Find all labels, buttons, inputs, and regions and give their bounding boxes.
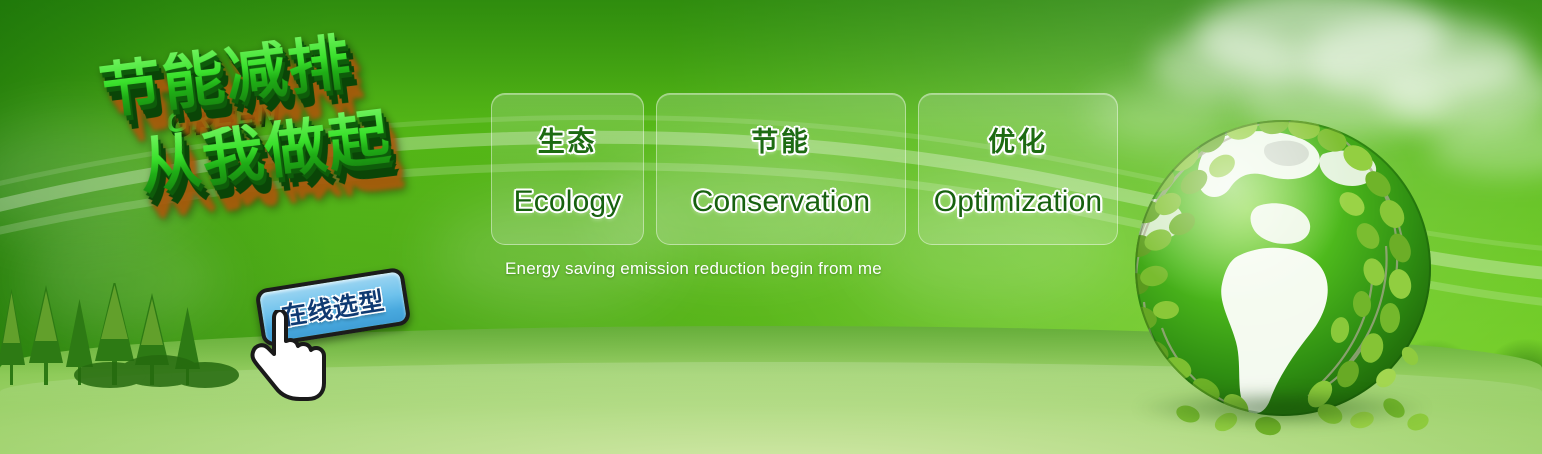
headline-block: 节能减排 GREEN 从我做起: [84, 15, 511, 312]
feature-card-optimization[interactable]: 优化 Optimization: [918, 93, 1118, 245]
feature-card-title-en: Ecology: [514, 185, 622, 219]
feature-card-ecology[interactable]: 生态 Ecology: [491, 93, 644, 245]
eco-promo-banner: 节能减排 GREEN 从我做起 在线选型 生态 Ecology 节能 Conse…: [0, 0, 1542, 454]
globe-ground-shadow: [1132, 388, 1432, 428]
feature-card-title-en: Optimization: [934, 185, 1103, 219]
feature-card-title-cn: 优化: [988, 120, 1047, 159]
pointing-hand-cursor-icon: [244, 310, 330, 402]
banner-tagline: Energy saving emission reduction begin f…: [505, 259, 882, 279]
feature-card-title-cn: 节能: [751, 120, 810, 159]
feature-card-title-cn: 生态: [538, 120, 597, 159]
leafy-globe-illustration: [1118, 96, 1448, 436]
feature-card-conservation[interactable]: 节能 Conservation: [656, 93, 906, 245]
globe-icon: [1118, 96, 1448, 436]
feature-cards: 生态 Ecology 节能 Conservation 优化 Optimizati…: [491, 93, 1118, 245]
cta-area: 在线选型: [248, 272, 428, 382]
feature-card-title-en: Conservation: [692, 185, 871, 219]
